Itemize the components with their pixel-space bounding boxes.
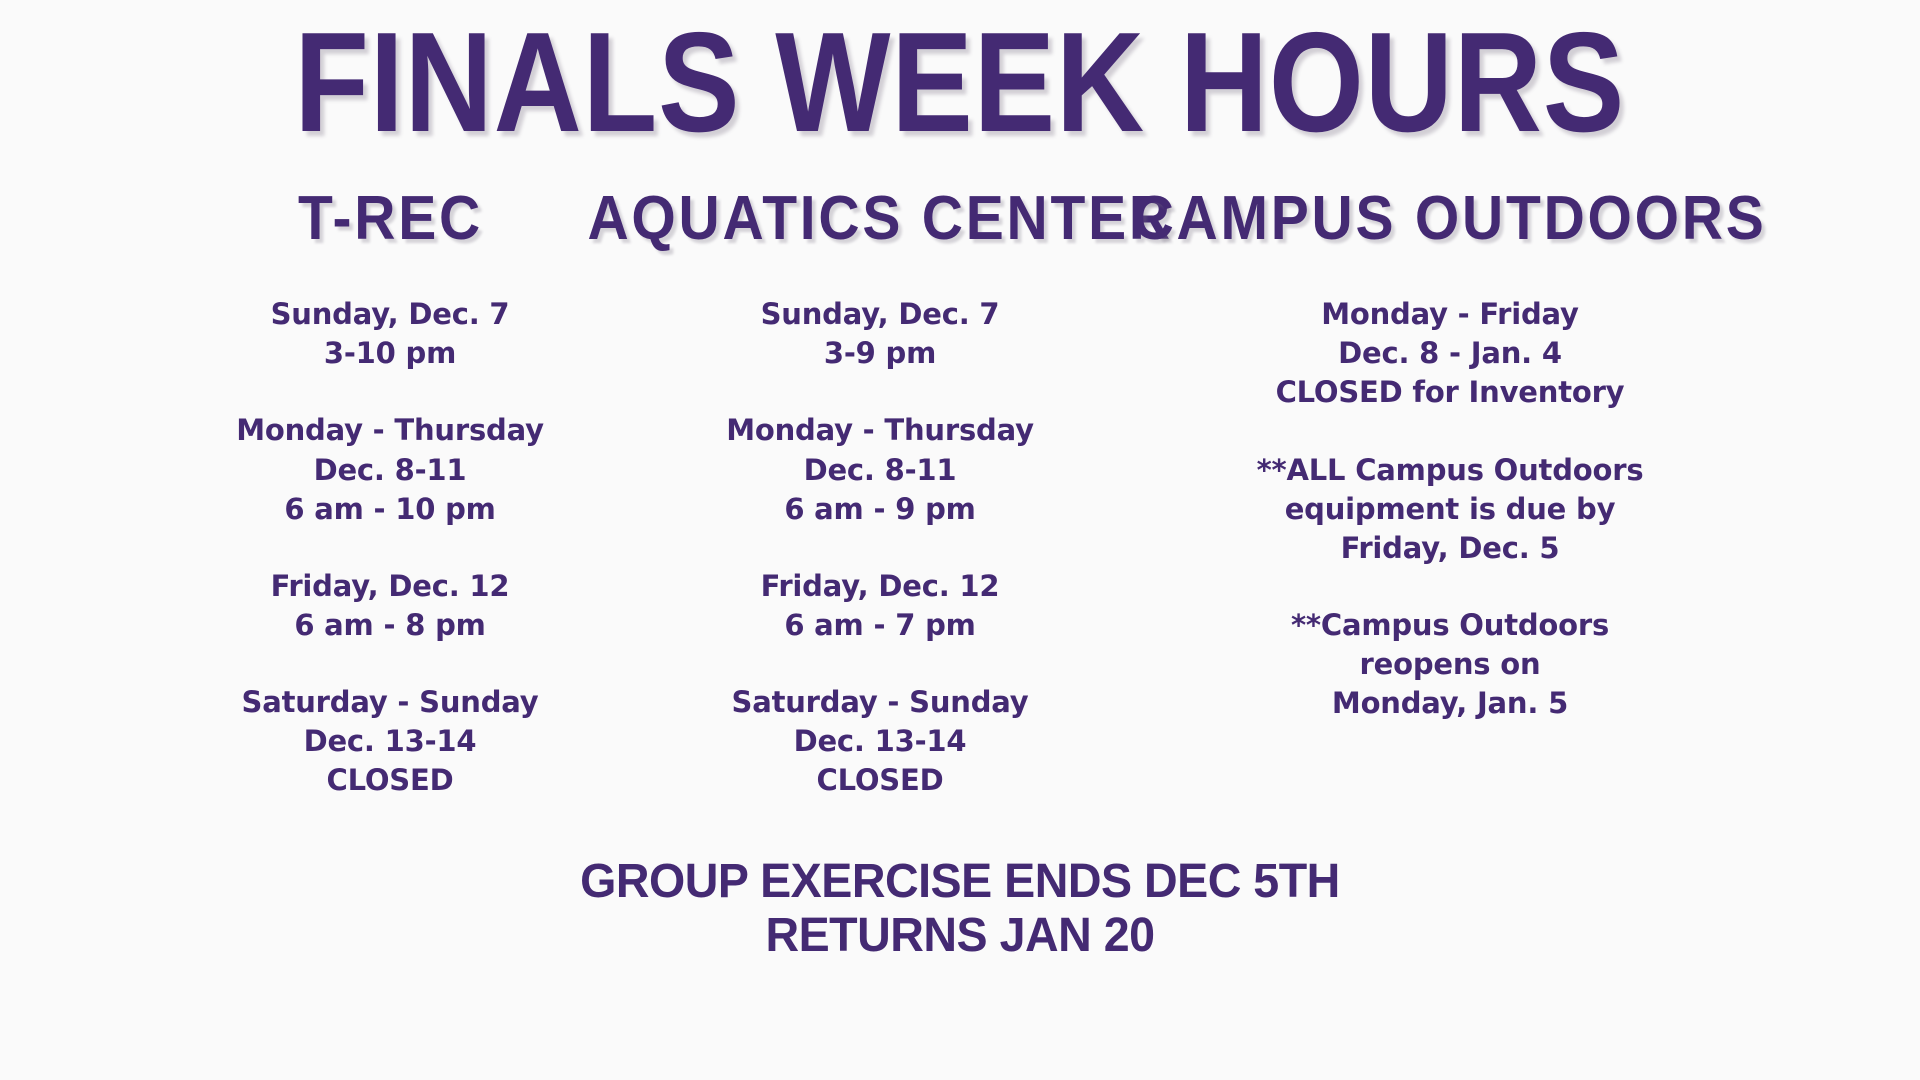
note-entry: **ALL Campus Outdoors equipment is due b… [1257, 451, 1644, 568]
entry-line: 6 am - 9 pm [726, 490, 1034, 529]
entries-campus-outdoors: Monday - Friday Dec. 8 - Jan. 4 CLOSED f… [1257, 295, 1644, 723]
hours-entry: Sunday, Dec. 7 3-9 pm [761, 295, 1000, 373]
entry-line: **ALL Campus Outdoors [1257, 451, 1644, 490]
entry-line: CLOSED [242, 761, 539, 800]
entry-line: reopens on [1291, 645, 1609, 684]
entry-line: 6 am - 7 pm [761, 606, 1000, 645]
entry-line: Monday, Jan. 5 [1291, 684, 1609, 723]
entry-line: 3-10 pm [271, 334, 510, 373]
note-entry: **Campus Outdoors reopens on Monday, Jan… [1291, 606, 1609, 723]
entries-aquatics-center: Sunday, Dec. 7 3-9 pm Monday - Thursday … [726, 295, 1034, 800]
entry-line: **Campus Outdoors [1291, 606, 1609, 645]
hours-entry: Monday - Thursday Dec. 8-11 6 am - 10 pm [236, 411, 544, 528]
hours-entry: Sunday, Dec. 7 3-10 pm [271, 295, 510, 373]
footer-line-group-exercise-ends: GROUP EXERCISE ENDS DEC 5TH [29, 855, 1891, 909]
entry-line: Dec. 8-11 [236, 451, 544, 490]
entry-line: 6 am - 10 pm [236, 490, 544, 529]
entry-line: Dec. 13-14 [732, 722, 1029, 761]
column-t-rec: T-REC Sunday, Dec. 7 3-10 pm Monday - Th… [160, 186, 620, 801]
entry-line: Monday - Friday [1276, 295, 1625, 334]
entry-line: Dec. 13-14 [242, 722, 539, 761]
entry-line: Monday - Thursday [726, 411, 1034, 450]
entry-line: Saturday - Sunday [242, 683, 539, 722]
column-aquatics-center: AQUATICS CENTER Sunday, Dec. 7 3-9 pm Mo… [620, 186, 1140, 801]
entry-line: Sunday, Dec. 7 [761, 295, 1000, 334]
column-heading-campus-outdoors: CAMPUS OUTDOORS [1133, 186, 1767, 251]
entry-line: Dec. 8-11 [726, 451, 1034, 490]
hours-entry: Friday, Dec. 12 6 am - 7 pm [761, 567, 1000, 645]
entry-line: 3-9 pm [761, 334, 1000, 373]
entry-line: Dec. 8 - Jan. 4 [1276, 334, 1625, 373]
entry-line: Sunday, Dec. 7 [271, 295, 510, 334]
entry-line: Monday - Thursday [236, 411, 544, 450]
entries-t-rec: Sunday, Dec. 7 3-10 pm Monday - Thursday… [236, 295, 544, 800]
entry-line: CLOSED for Inventory [1276, 373, 1625, 412]
column-campus-outdoors: CAMPUS OUTDOORS Monday - Friday Dec. 8 -… [1140, 186, 1760, 723]
footer-line-returns: RETURNS JAN 20 [29, 909, 1891, 963]
hours-columns: T-REC Sunday, Dec. 7 3-10 pm Monday - Th… [0, 186, 1920, 801]
hours-entry: Monday - Thursday Dec. 8-11 6 am - 9 pm [726, 411, 1034, 528]
entry-line: Saturday - Sunday [732, 683, 1029, 722]
page-title: FINALS WEEK HOURS [295, 12, 1626, 154]
hours-entry: Saturday - Sunday Dec. 13-14 CLOSED [242, 683, 539, 800]
column-heading-t-rec: T-REC [298, 186, 483, 251]
footer-notice: GROUP EXERCISE ENDS DEC 5TH RETURNS JAN … [0, 855, 1920, 963]
hours-entry: Friday, Dec. 12 6 am - 8 pm [271, 567, 510, 645]
entry-line: 6 am - 8 pm [271, 606, 510, 645]
hours-entry: Saturday - Sunday Dec. 13-14 CLOSED [732, 683, 1029, 800]
column-heading-aquatics-center: AQUATICS CENTER [587, 186, 1172, 251]
hours-entry: Monday - Friday Dec. 8 - Jan. 4 CLOSED f… [1276, 295, 1625, 412]
finals-week-hours-poster: FINALS WEEK HOURS T-REC Sunday, Dec. 7 3… [0, 0, 1920, 1080]
entry-line: equipment is due by [1257, 490, 1644, 529]
entry-line: Friday, Dec. 5 [1257, 529, 1644, 568]
entry-line: Friday, Dec. 12 [271, 567, 510, 606]
entry-line: Friday, Dec. 12 [761, 567, 1000, 606]
entry-line: CLOSED [732, 761, 1029, 800]
